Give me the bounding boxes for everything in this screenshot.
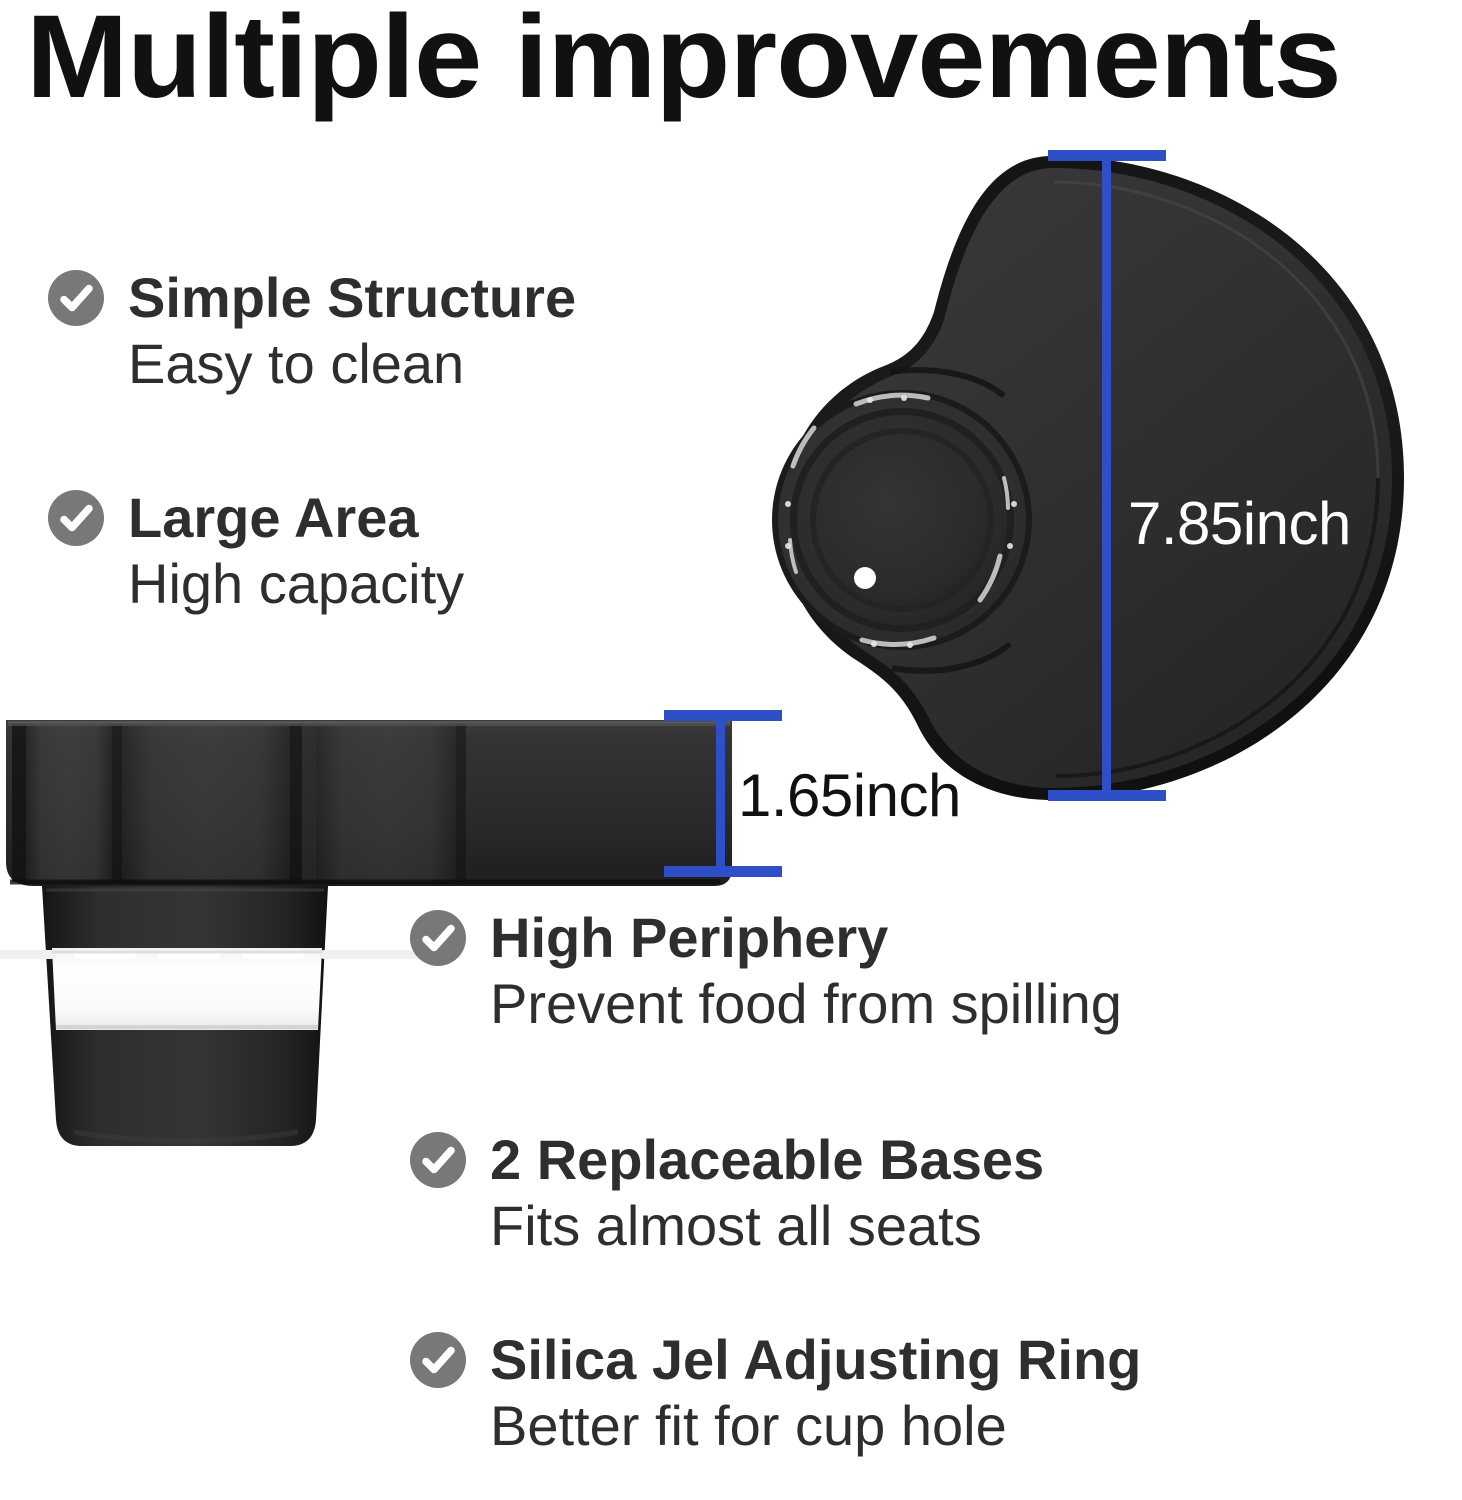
dimension-cap-bottom-diameter [1048,790,1166,801]
dimension-line-thickness [716,712,725,876]
dimension-label-diameter: 7.85inch [1128,492,1351,556]
feature-heading-row: 2 Replaceable Bases [410,1130,1044,1190]
feature-heading-row: Silica Jel Adjusting Ring [410,1330,1141,1390]
feature-title: High Periphery [490,908,888,968]
dimension-cap-bottom-thickness [664,866,782,877]
dimension-label-thickness: 1.65inch [738,764,961,828]
page-title: Multiple improvements [26,0,1462,116]
feature-item-replaceable-bases: 2 Replaceable Bases Fits almost all seat… [410,1130,1044,1258]
feature-title: Silica Jel Adjusting Ring [490,1330,1141,1390]
dimension-line-diameter [1102,152,1111,800]
feature-heading-row: Large Area [48,488,464,548]
check-circle-icon [410,1132,466,1188]
feature-subtitle: High capacity [128,552,464,616]
feature-subtitle: Prevent food from spilling [490,972,1122,1036]
feature-title: 2 Replaceable Bases [490,1130,1044,1190]
feature-item-silica-jel-ring: Silica Jel Adjusting Ring Better fit for… [410,1330,1141,1458]
feature-subtitle: Better fit for cup hole [490,1394,1141,1458]
check-circle-icon [410,910,466,966]
feature-item-high-periphery: High Periphery Prevent food from spillin… [410,908,1122,1036]
feature-heading-row: Simple Structure [48,268,576,328]
feature-title: Large Area [128,488,419,548]
feature-item-large-area: Large Area High capacity [48,488,464,616]
feature-subtitle: Easy to clean [128,332,576,396]
check-circle-icon [410,1332,466,1388]
cup-holder-tray-top-view [752,148,1412,808]
feature-subtitle: Fits almost all seats [490,1194,1044,1258]
feature-item-simple-structure: Simple Structure Easy to clean [48,268,576,396]
feature-title: Simple Structure [128,268,576,328]
check-circle-icon [48,490,104,546]
check-circle-icon [48,270,104,326]
feature-heading-row: High Periphery [410,908,1122,968]
